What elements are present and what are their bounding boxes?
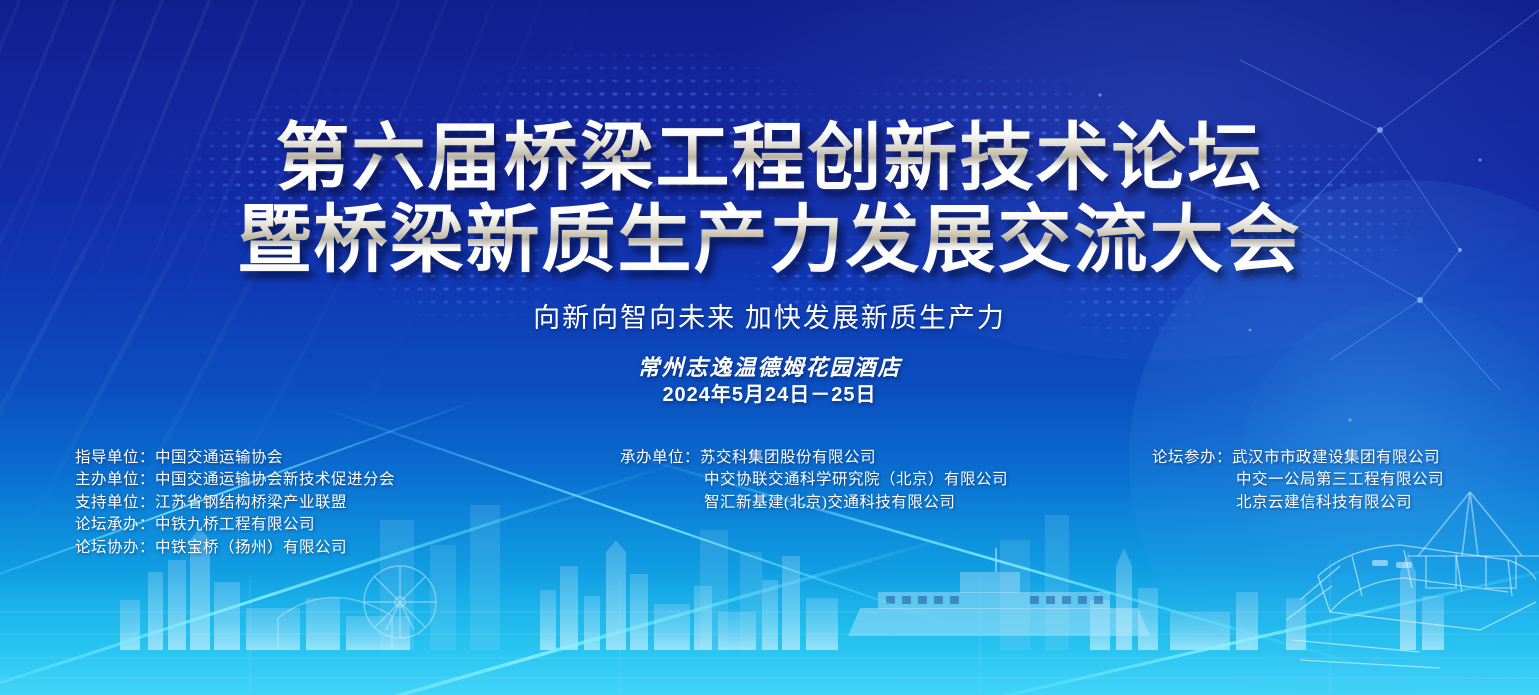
- organizer-value: 中国交通运输协会新技术促进分会: [155, 471, 395, 488]
- organizer-line: 论坛协办：中铁宝桥（扬州）有限公司: [75, 537, 395, 559]
- organizer-value: 中铁宝桥（扬州）有限公司: [155, 539, 347, 556]
- organizer-line: 北京云建信科技有限公司: [1152, 492, 1444, 514]
- organizer-line: 中交一公局第三工程有限公司: [1152, 469, 1444, 491]
- conference-banner: 第六届桥梁工程创新技术论坛 暨桥梁新质生产力发展交流大会 向新向智向未来 加快发…: [0, 0, 1539, 695]
- organizer-value: 中交一公局第三工程有限公司: [1236, 471, 1444, 488]
- organizers-right-column: 论坛参办：武汉市市政建设集团有限公司 中交一公局第三工程有限公司 北京云建信科技…: [1152, 447, 1444, 514]
- banner-slogan: 向新向智向未来 加快发展新质生产力: [0, 296, 1539, 335]
- cityscape-decor: [0, 0, 1539, 695]
- organizer-value: 智汇新基建(北京)交通科技有限公司: [704, 494, 955, 511]
- organizer-label: 指导单位：: [75, 449, 155, 466]
- title-line-2: 暨桥梁新质生产力发展交流大会: [0, 200, 1539, 282]
- organizer-line: 承办单位：苏交科集团股份有限公司: [620, 447, 1008, 469]
- organizer-label: 承办单位：: [620, 449, 700, 466]
- organizer-label: 论坛协办：: [75, 539, 155, 556]
- organizer-value: 苏交科集团股份有限公司: [700, 449, 876, 466]
- organizer-line: 论坛参办：武汉市市政建设集团有限公司: [1152, 447, 1444, 469]
- organizer-line: 论坛承办：中铁九桥工程有限公司: [75, 514, 395, 536]
- organizer-line: 主办单位：中国交通运输协会新技术促进分会: [75, 469, 395, 491]
- organizer-value: 武汉市市政建设集团有限公司: [1232, 449, 1440, 466]
- organizer-value: 江苏省钢结构桥梁产业联盟: [155, 494, 347, 511]
- organizer-line: 指导单位：中国交通运输协会: [75, 447, 395, 469]
- organizer-value: 中国交通运输协会: [155, 449, 283, 466]
- event-dates: 2024年5月24日－25日: [0, 378, 1539, 407]
- organizer-label: 论坛参办：: [1152, 449, 1232, 466]
- organizer-value: 中交协联交通科学研究院（北京）有限公司: [704, 471, 1008, 488]
- ferris-wheel-decor: [364, 566, 436, 638]
- organizer-value: 中铁九桥工程有限公司: [155, 516, 315, 533]
- organizers-center-column: 承办单位：苏交科集团股份有限公司 中交协联交通科学研究院（北京）有限公司 智汇新…: [620, 447, 1008, 514]
- organizer-line: 智汇新基建(北京)交通科技有限公司: [620, 492, 1008, 514]
- organizer-value: 北京云建信科技有限公司: [1236, 494, 1412, 511]
- title-line-1: 第六届桥梁工程创新技术论坛: [0, 118, 1539, 200]
- organizer-line: 支持单位：江苏省钢结构桥梁产业联盟: [75, 492, 395, 514]
- organizer-label: 论坛承办：: [75, 516, 155, 533]
- organizer-label: 支持单位：: [75, 494, 155, 511]
- banner-title: 第六届桥梁工程创新技术论坛 暨桥梁新质生产力发展交流大会: [0, 118, 1539, 282]
- organizer-line: 中交协联交通科学研究院（北京）有限公司: [620, 469, 1008, 491]
- organizers-left-column: 指导单位：中国交通运输协会 主办单位：中国交通运输协会新技术促进分会 支持单位：…: [75, 447, 395, 559]
- organizer-label: 主办单位：: [75, 471, 155, 488]
